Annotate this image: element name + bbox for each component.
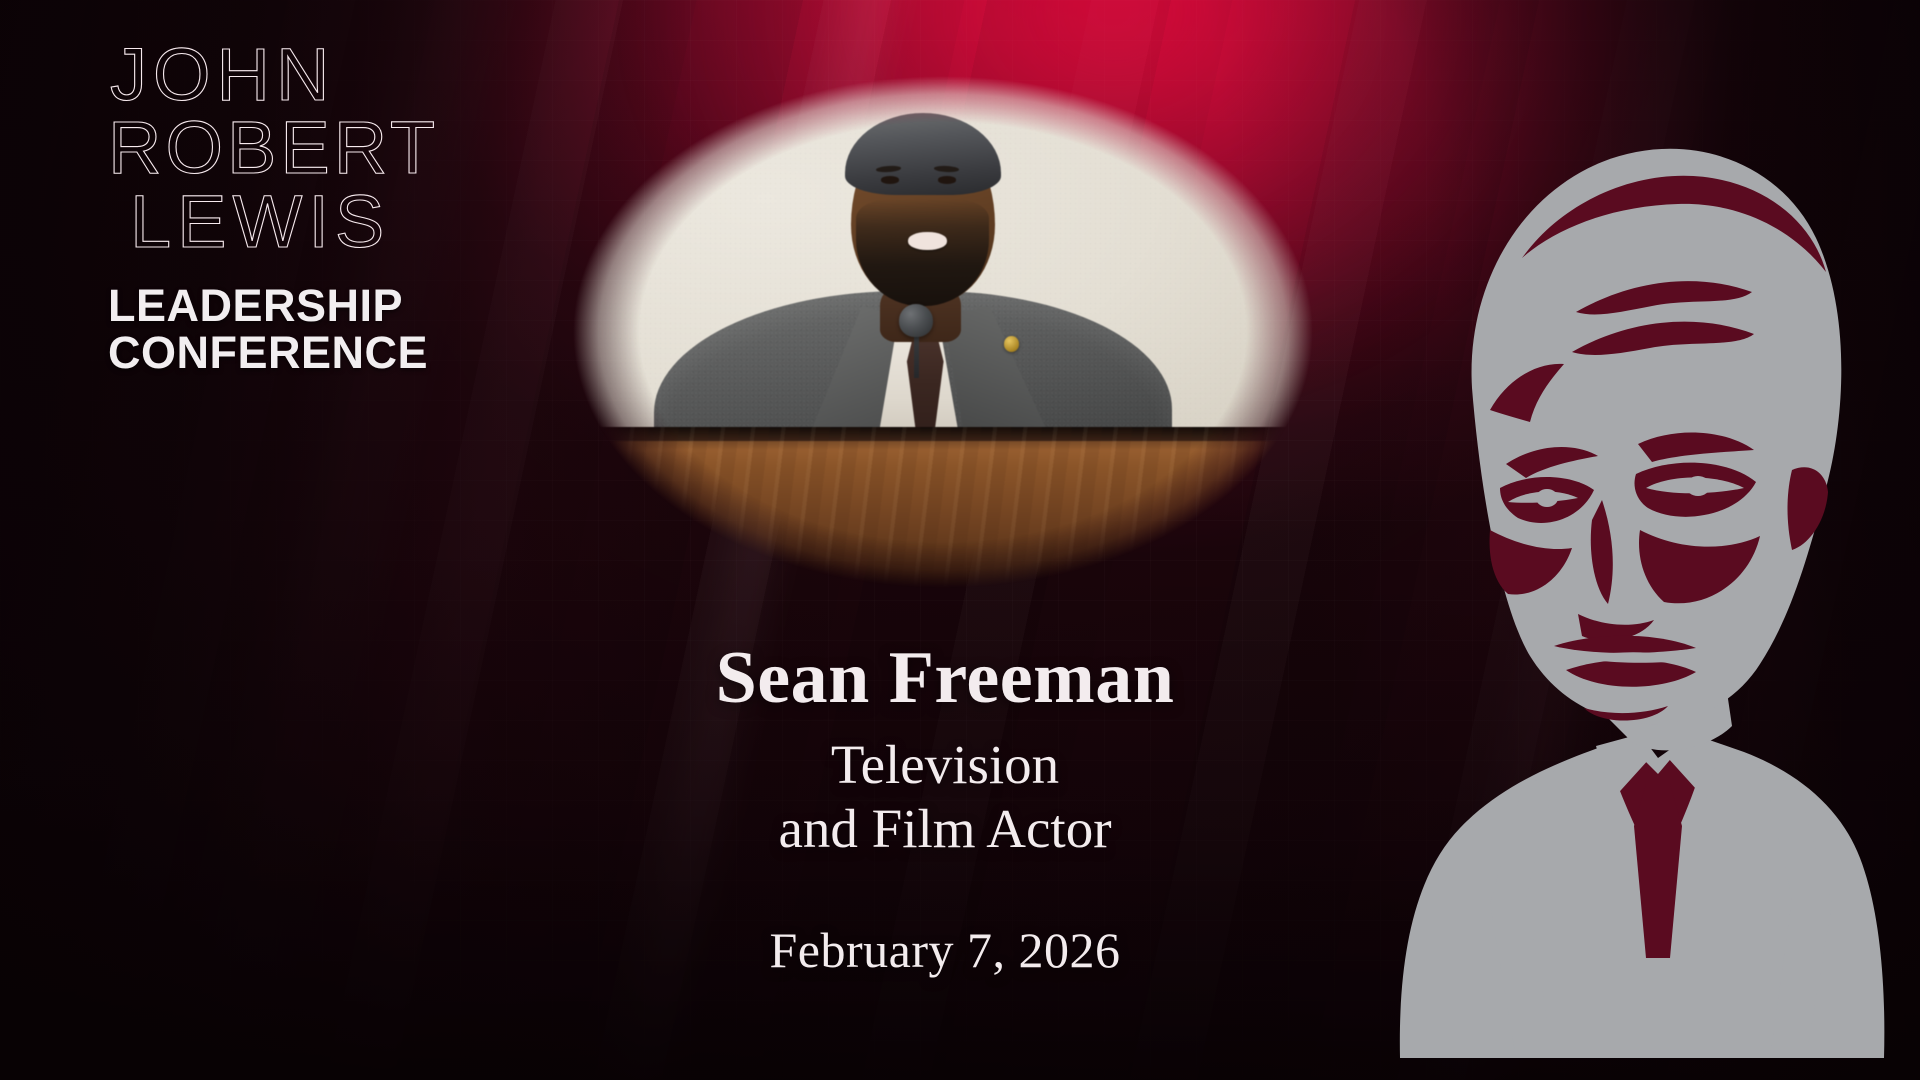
logo-line-robert: ROBERT [108, 111, 528, 184]
logo-subtitle: LEADERSHIP CONFERENCE [108, 282, 528, 377]
speaker-name: Sean Freeman [560, 640, 1330, 717]
event-date: February 7, 2026 [560, 921, 1330, 979]
logo-name-lines: JOHN ROBERT LEWIS [108, 38, 528, 258]
speaker-mouth [908, 232, 946, 249]
speaker-title-line-2: and Film Actor [560, 797, 1330, 861]
title-card: JOHN ROBERT LEWIS LEADERSHIP CONFERENCE [0, 0, 1920, 1080]
microphone-icon [899, 304, 933, 337]
speaker-beard [856, 199, 989, 307]
video-podium [573, 427, 1313, 588]
speaker-title-line-1: Television [560, 733, 1330, 797]
logo-line-conference: CONFERENCE [108, 329, 528, 377]
speaker-video-inset[interactable] [573, 76, 1313, 588]
speaker-info-block: Sean Freeman Television and Film Actor F… [560, 640, 1330, 979]
microphone-stem [914, 332, 918, 378]
john-lewis-portrait-illustration [1340, 58, 1900, 1058]
speaker-eye-left [881, 176, 900, 183]
speaker-hair [845, 113, 1000, 195]
speaker-eye-right [938, 176, 957, 183]
logo-line-lewis: LEWIS [108, 185, 528, 258]
logo-line-john: JOHN [108, 38, 528, 111]
logo-line-leadership: LEADERSHIP [108, 282, 528, 330]
speaker-lapel-pin [1004, 336, 1020, 352]
conference-logo: JOHN ROBERT LEWIS LEADERSHIP CONFERENCE [108, 38, 528, 377]
speaker-title: Television and Film Actor [560, 733, 1330, 861]
video-frame [573, 76, 1313, 588]
